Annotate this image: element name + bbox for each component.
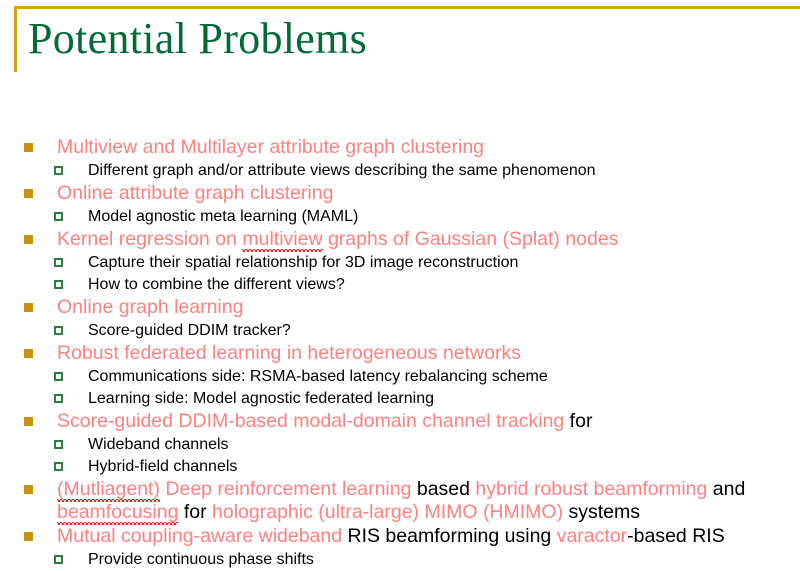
bullet-row-level2: Wideband channels [0,434,800,455]
hollow-square-bullet-icon [54,394,63,403]
text-run: Online graph learning [57,296,243,318]
text-run: RIS beamforming using [342,525,557,547]
bullet-text: Learning side: Model agnostic federated … [88,388,800,409]
text-run: Wideband channels [88,436,229,453]
misspelled-word: (Mutliagent) [57,478,160,501]
text-run: Different graph and/or attribute views d… [88,162,596,179]
filled-square-bullet-icon [24,303,33,312]
bullet-text: Robust federated learning in heterogeneo… [57,342,800,365]
text-run: Kernel regression on [57,228,242,250]
text-run: varactor [557,525,627,547]
text-run: Mutual coupling-aware wideband [57,525,342,547]
bullet-row-level1: Online graph learning [0,296,800,319]
hollow-square-bullet-icon [54,166,63,175]
bullet-row-level1: Score-guided DDIM-based modal-domain cha… [0,410,800,433]
bullet-text: Communications side: RSMA-based latency … [88,366,800,387]
text-run: Capture their spatial relationship for 3… [88,254,518,271]
misspelled-word: beamfocusing [57,501,178,524]
filled-square-bullet-icon [24,485,33,494]
text-run: Multiview and Multilayer attribute graph… [57,136,484,158]
text-run: How to combine the different views? [88,276,345,293]
text-run: Learning side: Model agnostic federated … [88,390,434,407]
text-run: Model agnostic meta learning (MAML) [88,208,358,225]
text-run: Hybrid-field channels [88,458,237,475]
text-run: Provide continuous phase shifts [88,551,314,568]
text-run: Score-guided DDIM tracker? [88,322,291,339]
bullet-text: Capture their spatial relationship for 3… [88,252,800,273]
bullet-text: Provide continuous phase shifts [88,549,800,570]
bullet-text: How to combine the different views? [88,274,800,295]
text-run: Online attribute graph clustering [57,182,333,204]
text-run: graphs of Gaussian (Splat) nodes [323,228,619,250]
text-run: Robust federated learning in heterogeneo… [57,342,521,364]
filled-square-bullet-icon [24,417,33,426]
bullet-row-level2: Different graph and/or attribute views d… [0,160,800,181]
bullet-row-level2: Capture their spatial relationship for 3… [0,252,800,273]
hollow-square-bullet-icon [54,326,63,335]
text-run: Score-guided DDIM-based modal-domain cha… [57,410,564,432]
bullet-row-level1: (Mutliagent) Deep reinforcement learning… [0,478,800,524]
bullet-text: Wideband channels [88,434,800,455]
text-run: for [178,501,212,523]
bullet-row-level1: Robust federated learning in heterogeneo… [0,342,800,365]
text-run: hybrid robust beamforming [470,478,713,500]
hollow-square-bullet-icon [54,280,63,289]
bullet-row-level2: Provide continuous phase shifts [0,549,800,570]
text-run: Deep reinforcement learning [160,478,417,500]
bullet-row-level1: Kernel regression on multiview graphs of… [0,228,800,251]
bullet-text: Mutual coupling-aware wideband RIS beamf… [57,525,800,548]
text-run: for [564,410,592,432]
hollow-square-bullet-icon [54,372,63,381]
bullet-text: Multiview and Multilayer attribute graph… [57,136,800,159]
bullet-row-level2: How to combine the different views? [0,274,800,295]
bullet-row-level2: Hybrid-field channels [0,456,800,477]
slide-top-rule [14,6,800,9]
bullet-text: Score-guided DDIM tracker? [88,320,800,341]
slide-title: Potential Problems [28,12,367,66]
text-run: and [713,478,746,500]
hollow-square-bullet-icon [54,440,63,449]
hollow-square-bullet-icon [54,555,63,564]
bullet-text: (Mutliagent) Deep reinforcement learning… [57,478,800,524]
text-run: Communications side: RSMA-based latency … [88,368,548,385]
hollow-square-bullet-icon [54,212,63,221]
bullet-row-level1: Online attribute graph clustering [0,182,800,205]
hollow-square-bullet-icon [54,462,63,471]
text-run: systems [563,501,640,523]
hollow-square-bullet-icon [54,258,63,267]
bullet-row-level1: Mutual coupling-aware wideband RIS beamf… [0,525,800,548]
filled-square-bullet-icon [24,235,33,244]
bullet-row-level2: Learning side: Model agnostic federated … [0,388,800,409]
bullet-text: Model agnostic meta learning (MAML) [88,206,800,227]
text-run: -based RIS [627,525,725,547]
bullet-row-level2: Model agnostic meta learning (MAML) [0,206,800,227]
text-run: based [417,478,470,500]
filled-square-bullet-icon [24,349,33,358]
misspelled-word: multiview [242,228,322,251]
slide-left-rule [14,6,17,72]
filled-square-bullet-icon [24,189,33,198]
filled-square-bullet-icon [24,143,33,152]
bullet-row-level2: Score-guided DDIM tracker? [0,320,800,341]
bullet-text: Different graph and/or attribute views d… [88,160,800,181]
bullet-text: Kernel regression on multiview graphs of… [57,228,800,251]
text-run: holographic (ultra-large) MIMO (HMIMO) [212,501,563,523]
filled-square-bullet-icon [24,532,33,541]
bullet-row-level1: Multiview and Multilayer attribute graph… [0,136,800,159]
bullet-text: Online attribute graph clustering [57,182,800,205]
bullet-text: Score-guided DDIM-based modal-domain cha… [57,410,800,433]
bullet-text: Online graph learning [57,296,800,319]
bullet-text: Hybrid-field channels [88,456,800,477]
slide-body-list: Multiview and Multilayer attribute graph… [0,136,800,571]
bullet-row-level2: Communications side: RSMA-based latency … [0,366,800,387]
